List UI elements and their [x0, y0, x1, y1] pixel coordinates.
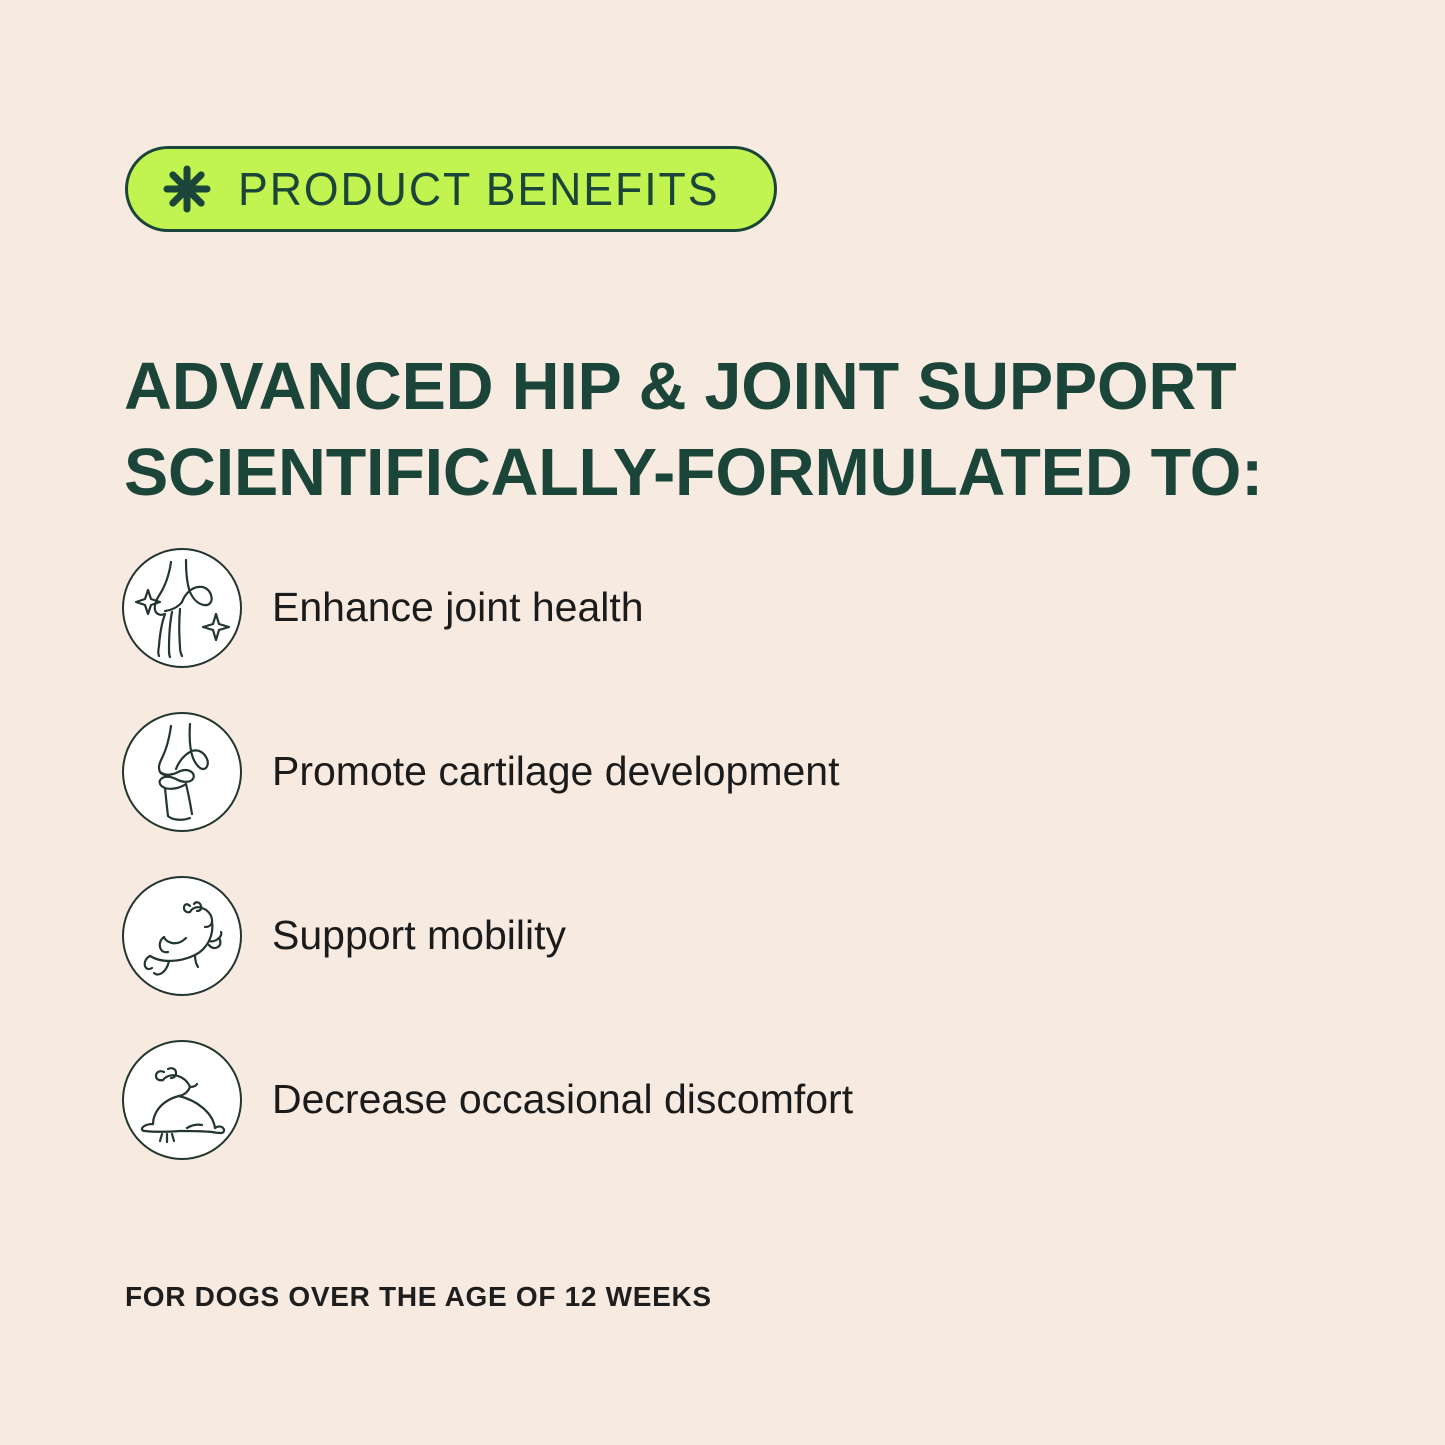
- leaping-dog-icon: [122, 876, 242, 996]
- list-item: Promote cartilage development: [122, 712, 1322, 832]
- list-item-label: Support mobility: [272, 912, 566, 959]
- list-item-label: Decrease occasional discomfort: [272, 1076, 853, 1123]
- list-item-label: Enhance joint health: [272, 584, 644, 631]
- headline-line-1: ADVANCED HIP & JOINT SUPPORT: [124, 344, 1342, 430]
- product-benefits-badge: PRODUCT BENEFITS: [125, 146, 777, 232]
- asterisk-flower-icon: [162, 164, 212, 214]
- product-benefits-panel: PRODUCT BENEFITS ADVANCED HIP & JOINT SU…: [0, 0, 1445, 1445]
- list-item: Decrease occasional discomfort: [122, 1040, 1322, 1160]
- age-requirement-note: FOR DOGS OVER THE AGE OF 12 WEEKS: [125, 1281, 712, 1313]
- resting-dog-icon: [122, 1040, 242, 1160]
- list-item-label: Promote cartilage development: [272, 748, 839, 795]
- joint-sparkle-icon: [122, 548, 242, 668]
- headline-line-2: SCIENTIFICALLY-FORMULATED TO:: [124, 430, 1342, 516]
- list-item: Support mobility: [122, 876, 1322, 996]
- knee-cartilage-icon: [122, 712, 242, 832]
- list-item: Enhance joint health: [122, 548, 1322, 668]
- benefits-list: Enhance joint health Promote cartilage d…: [122, 548, 1322, 1160]
- badge-label: PRODUCT BENEFITS: [238, 166, 719, 212]
- page-title: ADVANCED HIP & JOINT SUPPORT SCIENTIFICA…: [124, 344, 1354, 516]
